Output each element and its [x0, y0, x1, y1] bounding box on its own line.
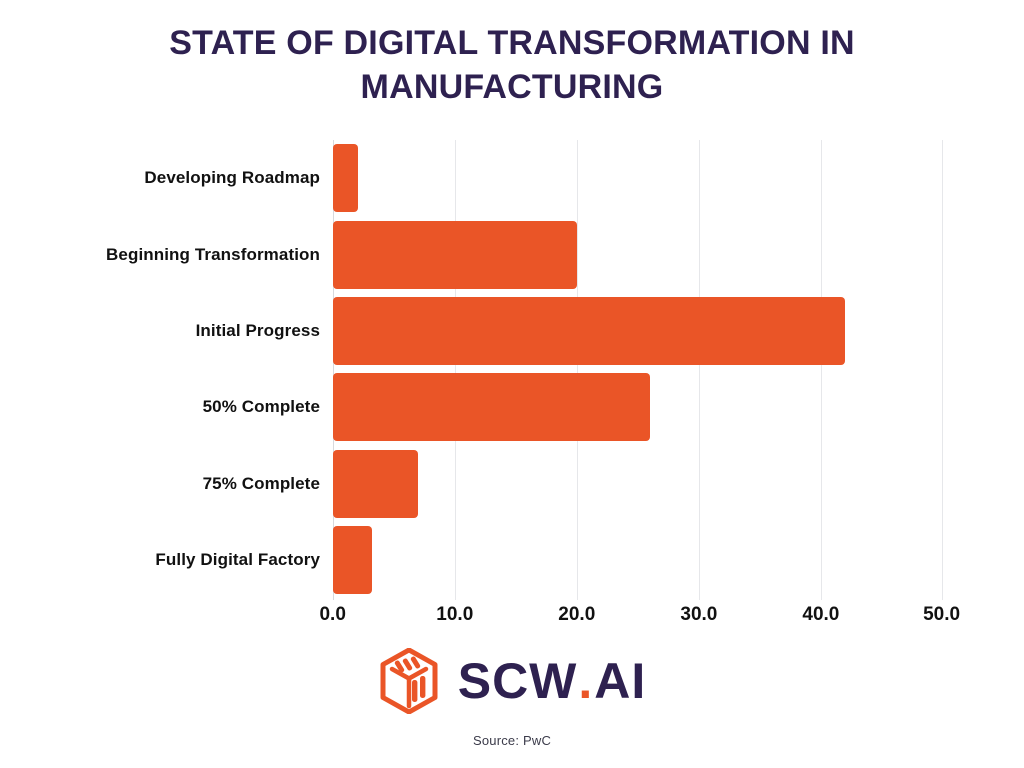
x-tick-label-0: 0.0	[319, 604, 345, 626]
logo-wordmark: SCW . AI	[458, 652, 647, 710]
y-tick-label-4: 75% Complete	[0, 474, 320, 494]
logo-text-scw: SCW	[458, 652, 578, 710]
gridline-50	[942, 140, 943, 600]
chart-page: STATE OF DIGITAL TRANSFORMATION IN MANUF…	[0, 0, 1024, 768]
plot-area	[333, 140, 943, 600]
scwai-cube-logo-icon	[378, 648, 440, 714]
page-title: STATE OF DIGITAL TRANSFORMATION IN MANUF…	[80, 22, 944, 109]
bar-3[interactable]	[333, 373, 650, 441]
gridline-30	[699, 140, 700, 600]
x-tick-label-4: 40.0	[802, 604, 839, 626]
bar-5[interactable]	[333, 526, 372, 594]
y-tick-label-5: Fully Digital Factory	[0, 550, 320, 570]
y-tick-label-3: 50% Complete	[0, 397, 320, 417]
logo-dot: .	[578, 652, 593, 710]
gridline-20	[577, 140, 578, 600]
bar-4[interactable]	[333, 450, 418, 518]
y-tick-label-2: Initial Progress	[0, 321, 320, 341]
plot-wrapper: Developing Roadmap Beginning Transformat…	[0, 140, 1024, 600]
y-tick-label-1: Beginning Transformation	[0, 245, 320, 265]
bar-1[interactable]	[333, 221, 577, 289]
y-axis-labels: Developing Roadmap Beginning Transformat…	[0, 140, 320, 600]
y-tick-label-0: Developing Roadmap	[0, 168, 320, 188]
source-note: Source: PwC	[0, 733, 1024, 748]
gridline-10	[455, 140, 456, 600]
logo-text-ai: AI	[594, 652, 646, 710]
x-axis: 0.0 10.0 20.0 30.0 40.0 50.0	[333, 600, 943, 640]
x-tick-label-2: 20.0	[558, 604, 595, 626]
x-tick-label-3: 30.0	[680, 604, 717, 626]
x-tick-label-5: 50.0	[923, 604, 960, 626]
bar-2[interactable]	[333, 297, 846, 365]
bar-0[interactable]	[333, 144, 359, 212]
brand-logo: SCW . AI	[0, 646, 1024, 716]
x-tick-label-1: 10.0	[436, 604, 473, 626]
gridline-40	[821, 140, 822, 600]
